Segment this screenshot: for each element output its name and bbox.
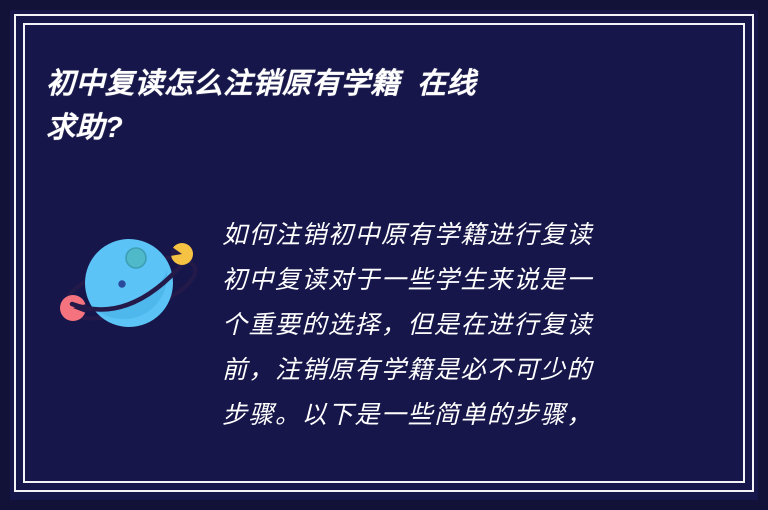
body-line-1: 如何注销初中原有学籍进行复读 <box>222 212 662 257</box>
body-text: 如何注销初中原有学籍进行复读 初中复读对于一些学生来说是一 个重要的选择，但是在… <box>222 212 662 437</box>
page-title: 初中复读怎么注销原有学籍 在线 求助? <box>46 62 686 150</box>
planet-illustration <box>58 218 203 353</box>
body-line-4: 前，注销原有学籍是必不可少的 <box>222 347 662 392</box>
title-line-1: 初中复读怎么注销原有学籍 在线 <box>46 62 686 106</box>
planet-crater-large-icon <box>126 248 146 268</box>
poster-canvas: 初中复读怎么注销原有学籍 在线 求助? <box>0 0 768 510</box>
body-line-2: 初中复读对于一些学生来说是一 <box>222 257 662 302</box>
title-line-2: 求助? <box>46 106 686 150</box>
body-line-3: 个重要的选择，但是在进行复读 <box>222 302 662 347</box>
planet-crater-small-icon <box>118 280 126 288</box>
body-line-5: 步骤。以下是一些简单的步骤， <box>222 392 662 437</box>
moon-right-icon <box>170 243 193 265</box>
